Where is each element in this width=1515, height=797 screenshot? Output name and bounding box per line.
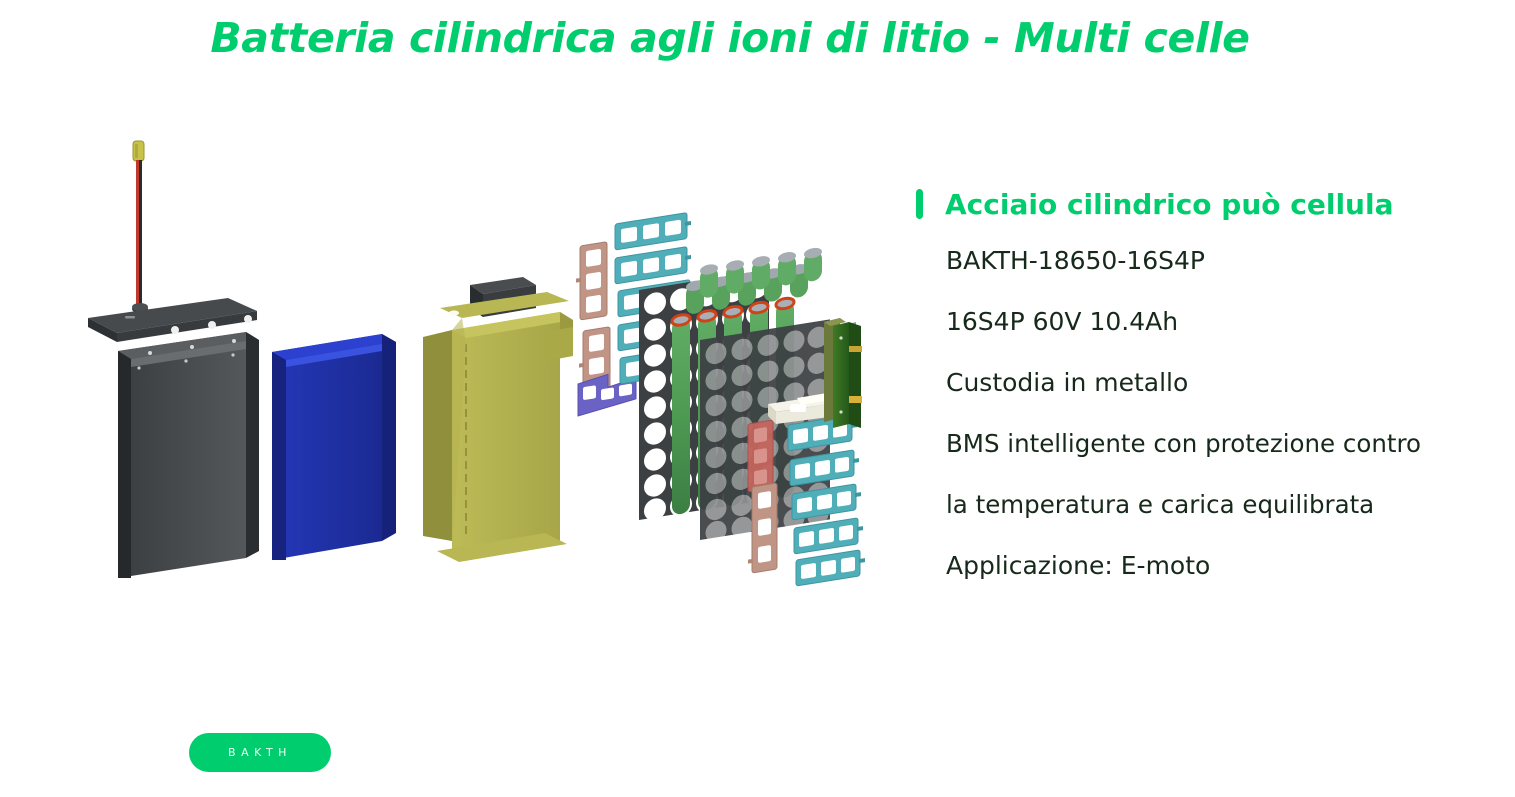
nickel-strip-tan-lower-part (748, 483, 777, 574)
blue-inner-shell-part (272, 334, 396, 560)
power-cable-part (132, 141, 148, 313)
product-info-panel: Acciaio cilindrico può cellula BAKTH-186… (916, 178, 1506, 596)
spec-line-bms-1: BMS intelligente con protezione contro (946, 413, 1506, 474)
brand-button-label: BAKTH (228, 746, 292, 759)
exploded-battery-pack-diagram (0, 0, 920, 700)
product-info-heading-row: Acciaio cilindrico può cellula (916, 178, 1506, 230)
brand-button[interactable]: BAKTH (189, 733, 331, 772)
product-info-heading: Acciaio cilindrico può cellula (945, 188, 1393, 221)
nickel-strip-teal-lower-part (788, 414, 865, 586)
olive-insulation-part (423, 277, 573, 562)
spec-line-bms-2: la temperatura e carica equilibrata (946, 474, 1506, 535)
spec-line-configuration: 16S4P 60V 10.4Ah (946, 291, 1506, 352)
spec-line-model: BAKTH-18650-16S4P (946, 230, 1506, 291)
spec-line-housing: Custodia in metallo (946, 352, 1506, 413)
metal-case-part (118, 332, 259, 578)
spec-line-application: Applicazione: E-moto (946, 535, 1506, 596)
slide-root: Batteria cilindrica agli ioni di litio -… (0, 0, 1515, 797)
nickel-strip-red-part (748, 420, 773, 492)
accent-bar-icon (916, 189, 923, 219)
bms-pcb-part (824, 318, 862, 428)
